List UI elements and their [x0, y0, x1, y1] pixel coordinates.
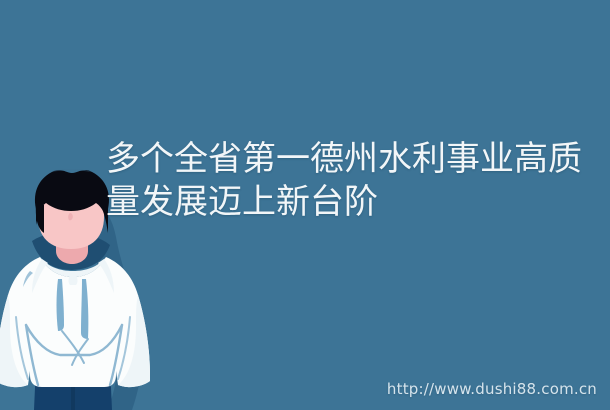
site-url-watermark: http://www.dushi88.com.cn [387, 380, 597, 398]
hair [35, 169, 109, 233]
neck-and-face [38, 173, 104, 264]
hoodie-drawstrings [57, 279, 89, 339]
news-cover-card: 多个全省第一德州水利事业高质量发展迈上新台阶 http://www.dushi8… [0, 0, 610, 410]
pants [34, 365, 112, 410]
hoodie-pocket [26, 325, 122, 385]
hoodie [0, 257, 150, 387]
hood-interior [32, 232, 110, 270]
drawstring-tails [62, 331, 88, 365]
page-title: 多个全省第一德州水利事业高质量发展迈上新台阶 [106, 138, 602, 224]
